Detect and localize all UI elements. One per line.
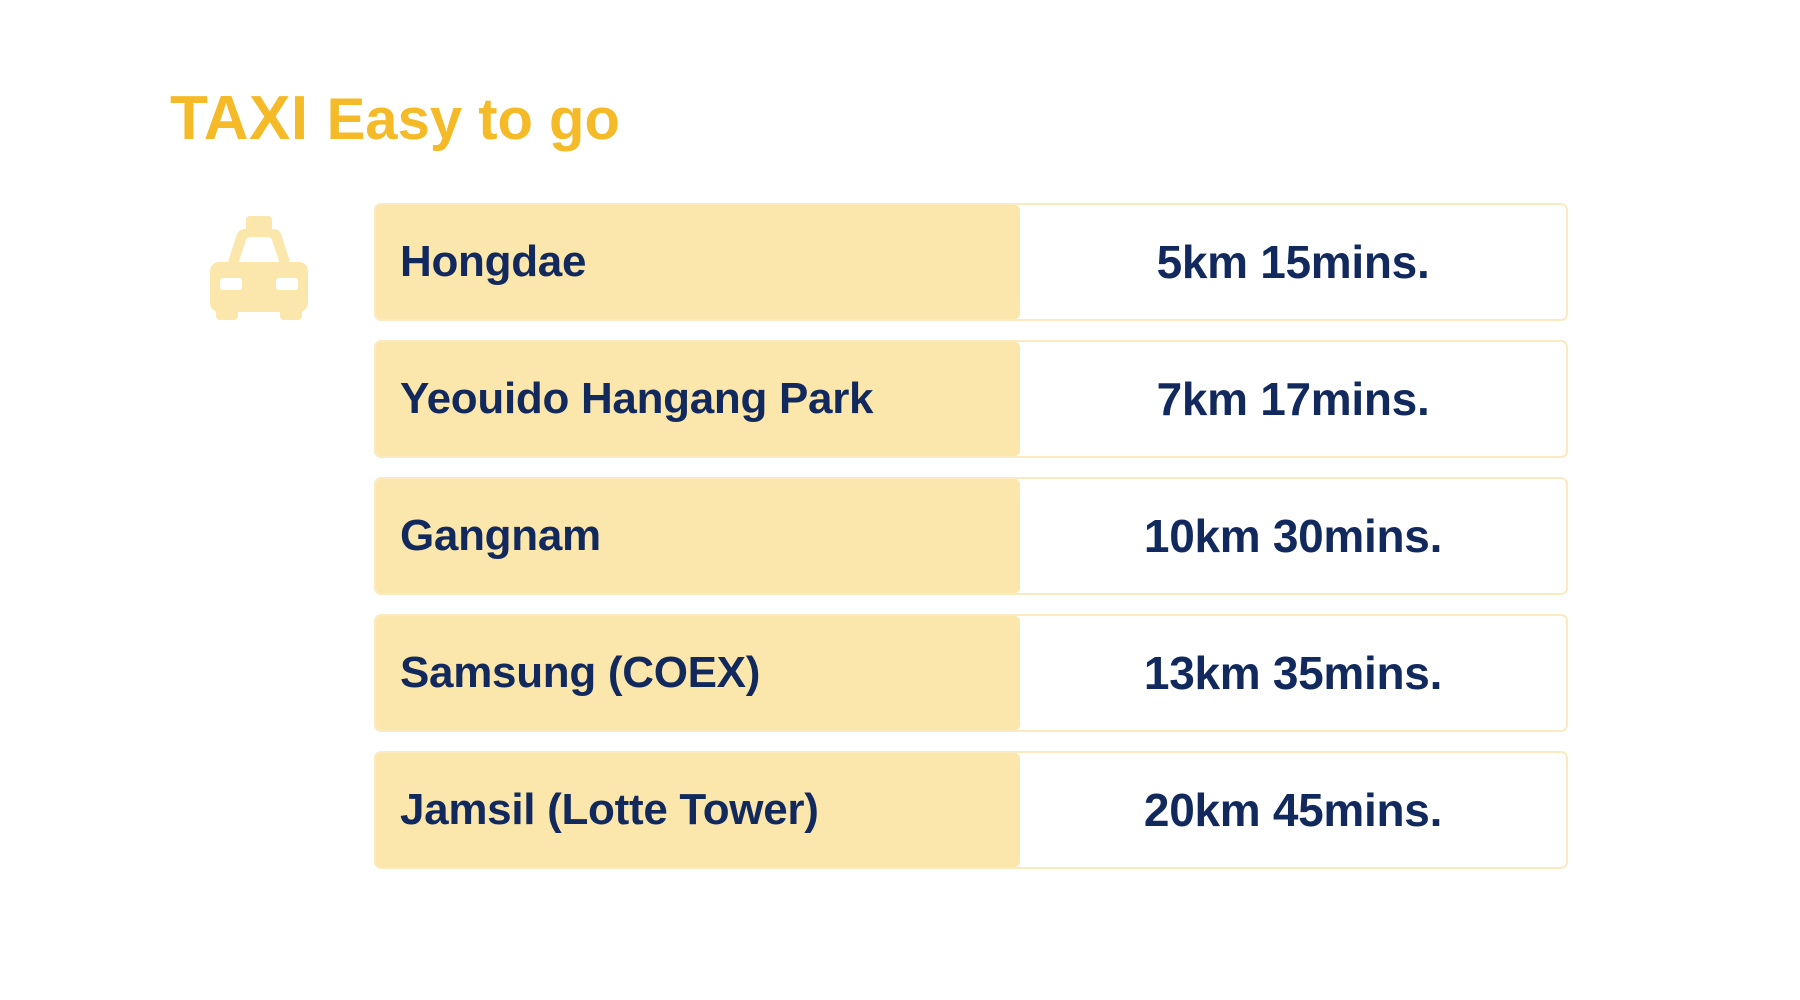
distance-time-label: 7km 17mins. [1157, 372, 1430, 426]
table-cell-distance-time: 10km 30mins. [1020, 479, 1566, 593]
table-row[interactable]: Yeouido Hangang Park 7km 17mins. [374, 340, 1568, 458]
table-cell-destination: Yeouido Hangang Park [376, 342, 1020, 456]
table-row[interactable]: Gangnam 10km 30mins. [374, 477, 1568, 595]
distance-time-label: 10km 30mins. [1144, 509, 1442, 563]
table-cell-destination: Gangnam [376, 479, 1020, 593]
destination-label: Samsung (COEX) [400, 648, 760, 698]
table-row[interactable]: Hongdae 5km 15mins. [374, 203, 1568, 321]
title-main: TAXI [170, 88, 309, 150]
page-title: TAXI Easy to go [170, 88, 620, 150]
taxi-icon [196, 212, 322, 324]
table-cell-distance-time: 7km 17mins. [1020, 342, 1566, 456]
distance-time-label: 13km 35mins. [1144, 646, 1442, 700]
destination-label: Gangnam [400, 511, 601, 561]
table-cell-distance-time: 20km 45mins. [1020, 753, 1566, 867]
table-cell-distance-time: 13km 35mins. [1020, 616, 1566, 730]
distance-time-label: 20km 45mins. [1144, 783, 1442, 837]
table-cell-destination: Jamsil (Lotte Tower) [376, 753, 1020, 867]
destination-label: Jamsil (Lotte Tower) [400, 785, 819, 835]
taxi-info-panel: TAXI Easy to go Hongdae 5km 15m [0, 0, 1800, 1000]
destination-label: Hongdae [400, 237, 586, 287]
destination-table: Hongdae 5km 15mins. Yeouido Hangang Park… [374, 203, 1568, 869]
destination-label: Yeouido Hangang Park [400, 374, 873, 424]
table-cell-distance-time: 5km 15mins. [1020, 205, 1566, 319]
title-subtitle: Easy to go [327, 91, 620, 149]
table-row[interactable]: Jamsil (Lotte Tower) 20km 45mins. [374, 751, 1568, 869]
table-cell-destination: Hongdae [376, 205, 1020, 319]
table-row[interactable]: Samsung (COEX) 13km 35mins. [374, 614, 1568, 732]
distance-time-label: 5km 15mins. [1157, 235, 1430, 289]
table-cell-destination: Samsung (COEX) [376, 616, 1020, 730]
